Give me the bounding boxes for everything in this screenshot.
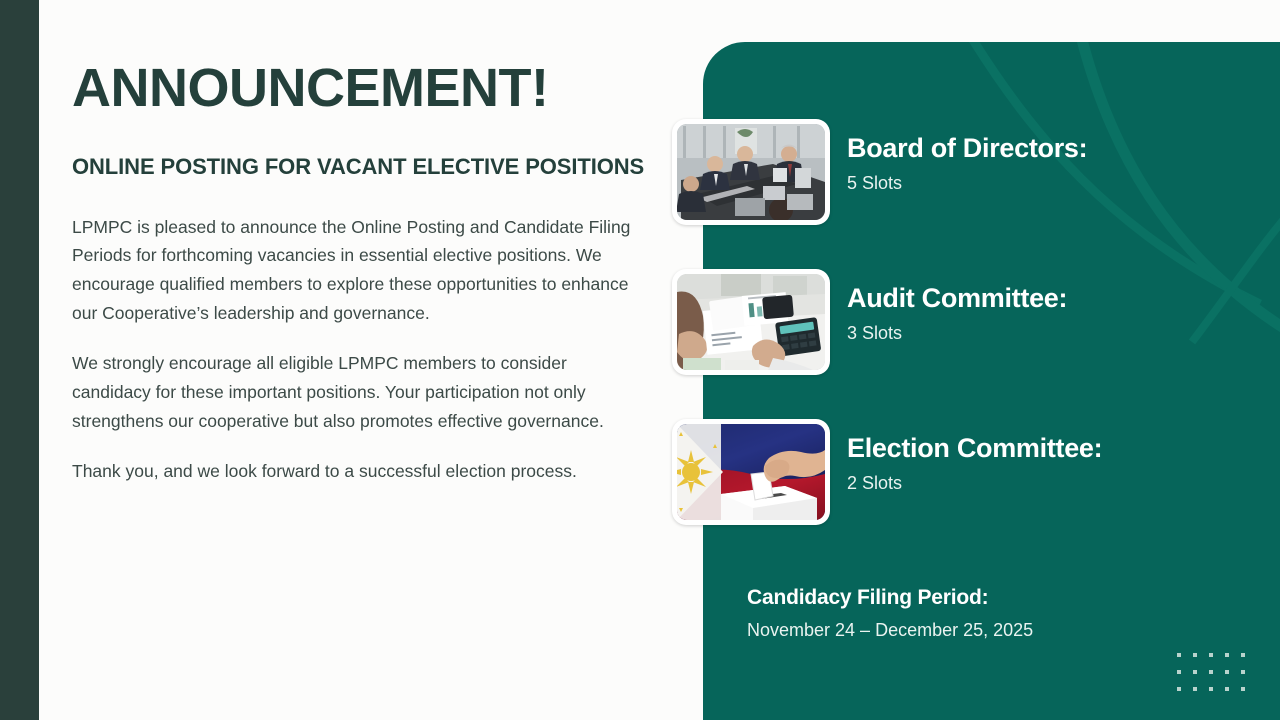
filing-period-title: Candidacy Filing Period: <box>747 584 1167 611</box>
position-title: Audit Committee: <box>847 283 1227 314</box>
position-title: Board of Directors: <box>847 133 1227 164</box>
filing-period-block: Candidacy Filing Period: November 24 – D… <box>747 584 1167 643</box>
position-title: Election Committee: <box>847 433 1227 464</box>
filing-period-dates: November 24 – December 25, 2025 <box>747 619 1167 642</box>
philippine-flag-ballot-box-photo <box>672 419 830 525</box>
position-slots: 5 Slots <box>847 173 1227 195</box>
boardroom-meeting-photo <box>672 119 830 225</box>
announcement-slide: ANNOUNCEMENT! ONLINE POSTING FOR VACANT … <box>0 0 1280 720</box>
position-slots: 2 Slots <box>847 473 1227 495</box>
position-text: Board of Directors: 5 Slots <box>847 133 1227 195</box>
auditing-desk-calculator-photo <box>672 269 830 375</box>
position-text: Audit Committee: 3 Slots <box>847 283 1227 345</box>
position-text: Election Committee: 2 Slots <box>847 433 1227 495</box>
position-slots: 3 Slots <box>847 323 1227 345</box>
